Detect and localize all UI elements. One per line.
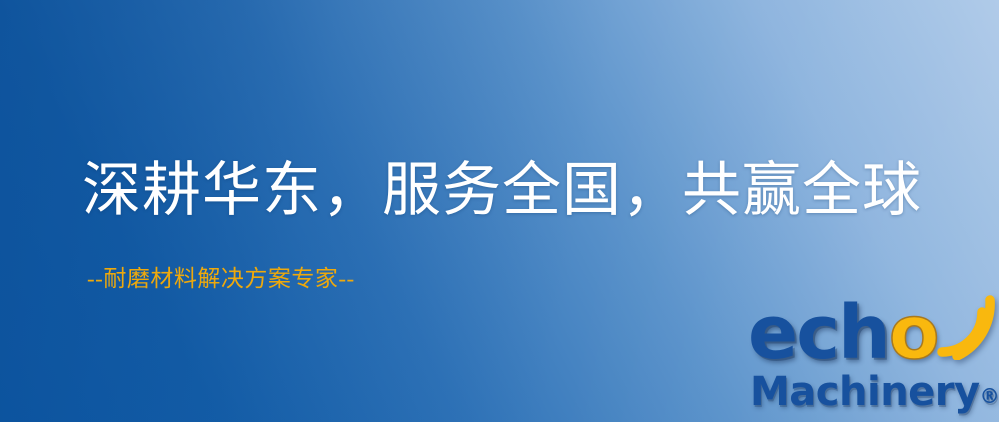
logo-text-ech: ech [748,296,889,370]
banner-headline: 深耕华东，服务全国，共赢全球 [82,155,922,225]
promotional-banner: 深耕华东，服务全国，共赢全球 --耐磨材料解决方案专家-- ech o Mach… [0,0,999,422]
signal-waves-icon [930,294,996,360]
logo-wordmark: ech o [748,296,938,368]
logo-machinery-word: Machinery [750,369,980,415]
registered-trademark-icon: ® [980,384,999,408]
echo-machinery-logo[interactable]: ech o Machinery® [744,296,999,422]
logo-text-machinery: Machinery® [750,370,999,418]
banner-subtitle: --耐磨材料解决方案专家-- [87,264,355,294]
